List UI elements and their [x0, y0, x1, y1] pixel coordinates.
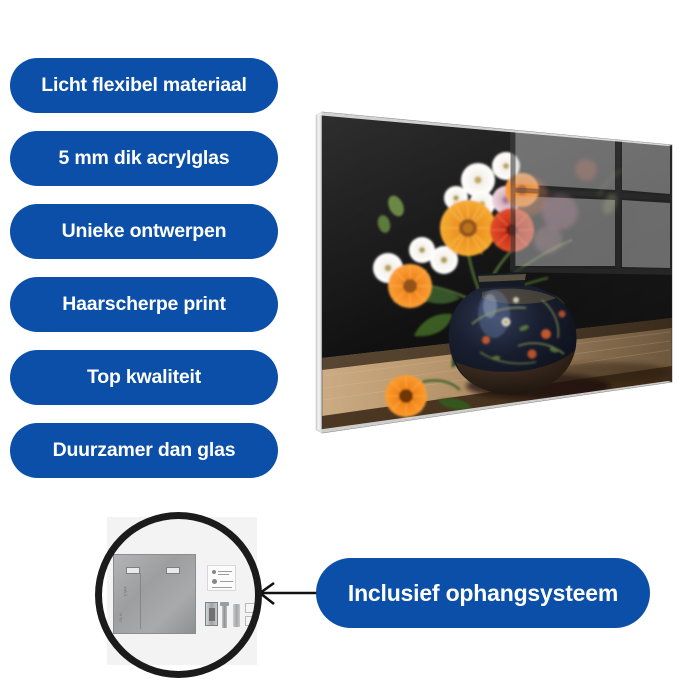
feature-badge-label: Top kwaliteit	[87, 366, 201, 389]
panel-edge-left	[316, 112, 322, 433]
callout-badge-hanging-system[interactable]: Inclusief ophangsysteem	[316, 558, 650, 628]
feature-badge[interactable]: Top kwaliteit	[10, 350, 278, 405]
feature-badge[interactable]: Duurzamer dan glas	[10, 423, 278, 478]
feature-badge[interactable]: Licht flexibel materiaal	[10, 58, 278, 113]
inset-ring-border	[95, 512, 262, 678]
feature-badge-label: Licht flexibel materiaal	[41, 74, 246, 97]
panel-artwork	[310, 100, 690, 450]
feature-badge-label: Duurzamer dan glas	[53, 439, 236, 462]
feature-badge[interactable]: 5 mm dik acrylglas	[10, 131, 278, 186]
feature-badge[interactable]: Unieke ontwerpen	[10, 204, 278, 259]
product-image-acrylic-print	[310, 100, 690, 450]
feature-badge-label: 5 mm dik acrylglas	[59, 147, 230, 170]
feature-badge[interactable]: Haarscherpe print	[10, 277, 278, 332]
feature-badge-list: Licht flexibel materiaal 5 mm dik acrylg…	[10, 58, 278, 496]
hanging-system-inset: 3 MM SL H	[95, 512, 262, 678]
surface-gloss	[322, 112, 672, 433]
callout-badge-label: Inclusief ophangsysteem	[348, 580, 618, 607]
feature-badge-label: Unieke ontwerpen	[62, 220, 227, 243]
feature-badge-label: Haarscherpe print	[62, 293, 226, 316]
